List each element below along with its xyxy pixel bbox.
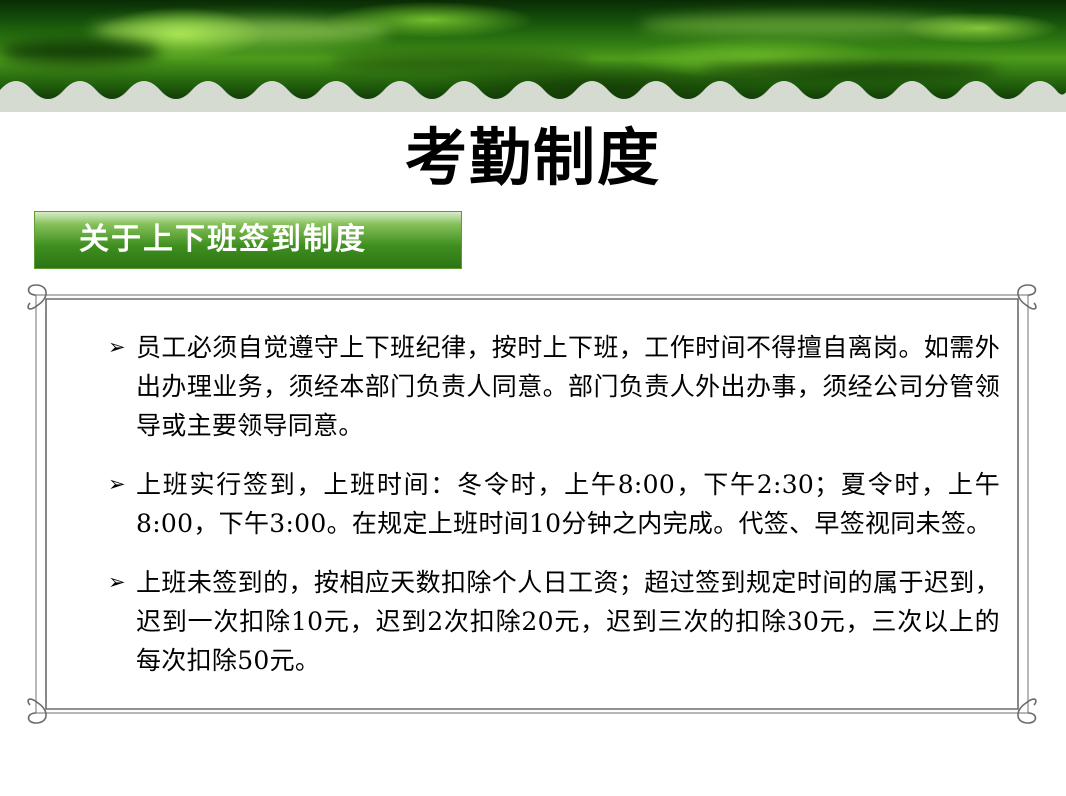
bullet-list: ➢ 员工必须自觉遵守上下班纪律，按时上下班，工作时间不得擅自离岗。如需外出办理业… — [80, 328, 1000, 700]
arrow-bullet-icon: ➢ — [80, 465, 136, 504]
arrow-bullet-icon: ➢ — [80, 328, 136, 367]
scalloped-wave-divider — [0, 78, 1066, 112]
subtitle-banner: 关于上下班签到制度 — [34, 211, 462, 269]
subtitle-text: 关于上下班签到制度 — [79, 223, 367, 257]
decorative-green-banner — [0, 0, 1066, 112]
list-item: ➢ 上班实行签到，上班时间：冬令时，上午8:00，下午2:30；夏令时，上午8:… — [80, 465, 1000, 543]
banner-streak-2 — [330, 52, 590, 72]
banner-streak-5 — [0, 40, 160, 64]
bullet-text: 员工必须自觉遵守上下班纪律，按时上下班，工作时间不得擅自离岗。如需外出办理业务，… — [136, 328, 1000, 445]
bullet-text: 上班实行签到，上班时间：冬令时，上午8:00，下午2:30；夏令时，上午8:00… — [136, 465, 1000, 543]
arrow-bullet-icon: ➢ — [80, 563, 136, 602]
slide-title: 考勤制度 — [0, 122, 1066, 194]
bullet-text: 上班未签到的，按相应天数扣除个人日工资；超过签到规定时间的属于迟到，迟到一次扣除… — [136, 563, 1000, 680]
presentation-slide: 考勤制度 关于上下班签到制度 ➢ 员工必须自觉遵守上下班纪律，按时上下班，工作时… — [0, 0, 1066, 796]
banner-streak-3 — [640, 14, 970, 36]
list-item: ➢ 上班未签到的，按相应天数扣除个人日工资；超过签到规定时间的属于迟到，迟到一次… — [80, 563, 1000, 680]
content-frame: ➢ 员工必须自觉遵守上下班纪律，按时上下班，工作时间不得擅自离岗。如需外出办理业… — [24, 283, 1040, 725]
banner-streak-1 — [90, 18, 390, 44]
list-item: ➢ 员工必须自觉遵守上下班纪律，按时上下班，工作时间不得擅自离岗。如需外出办理业… — [80, 328, 1000, 445]
